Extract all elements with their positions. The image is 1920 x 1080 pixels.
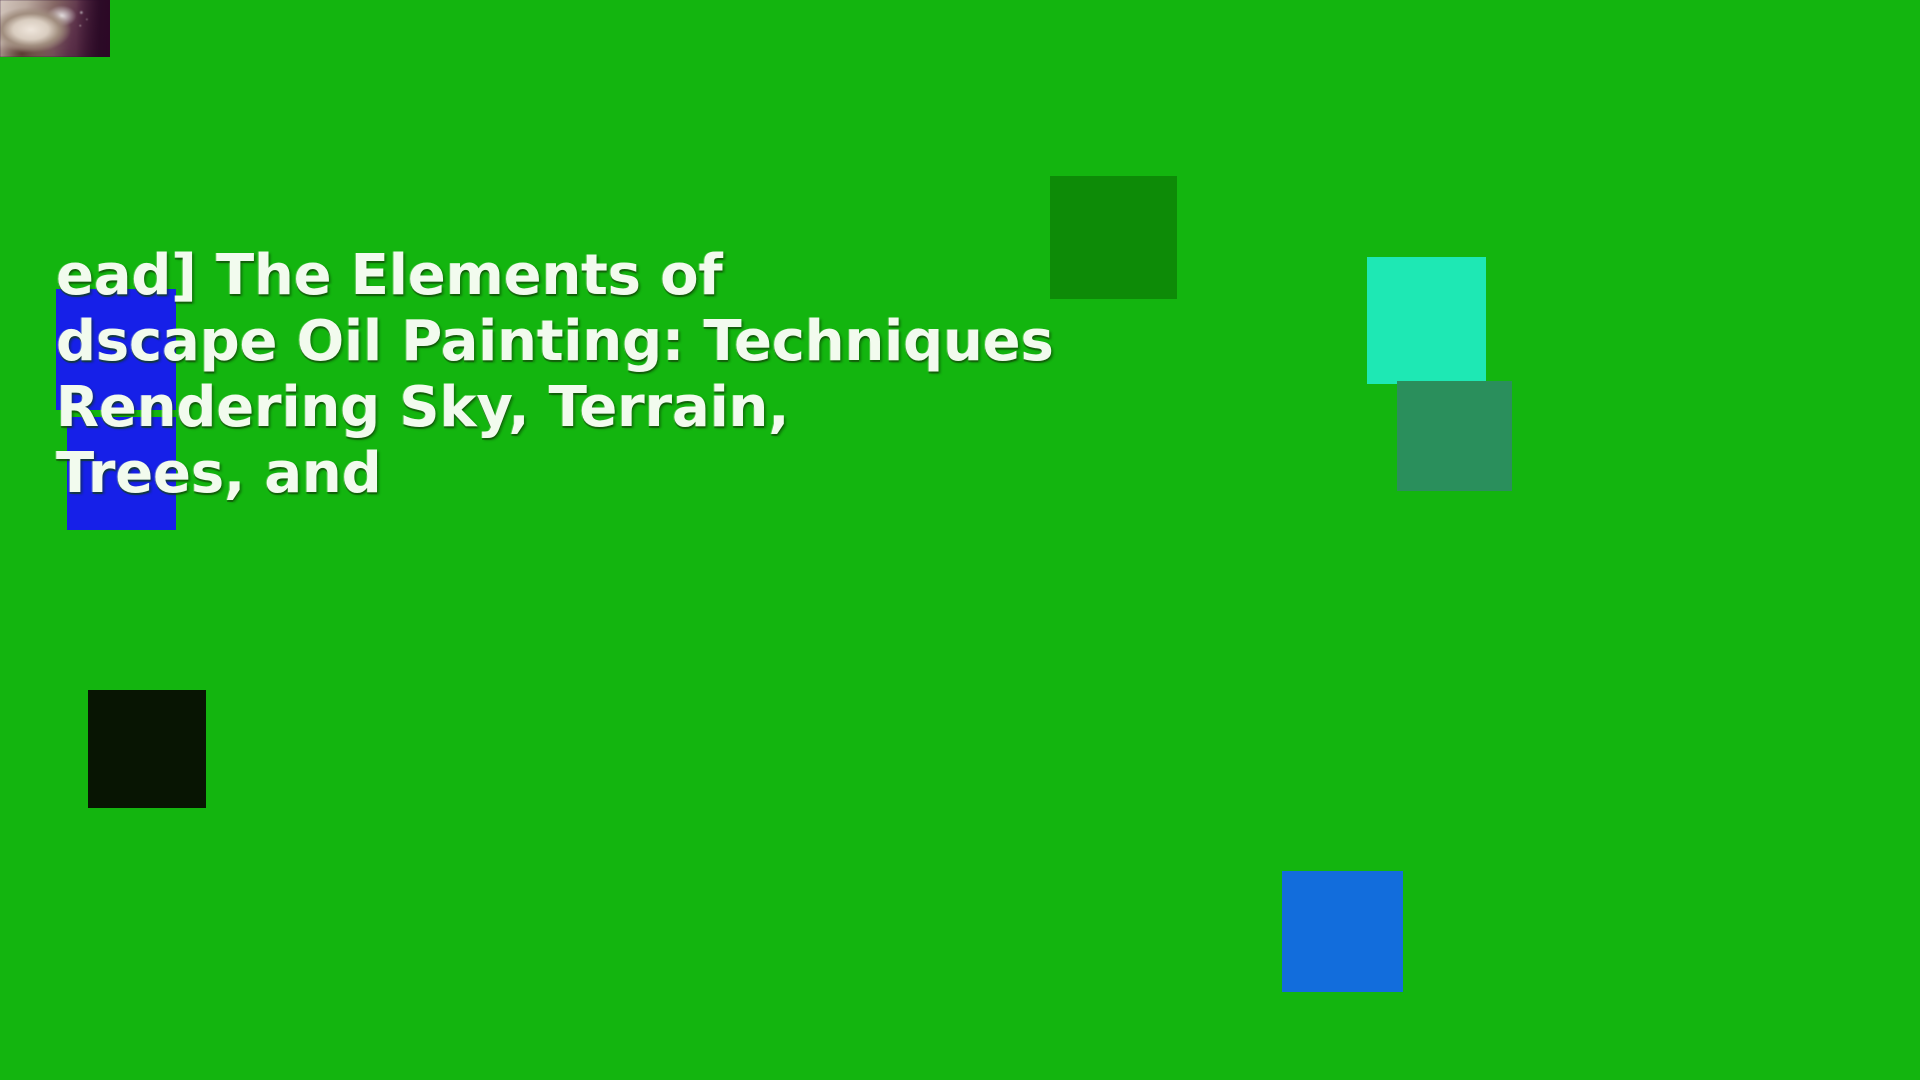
title-line-3: Rendering Sky, Terrain,	[56, 375, 1086, 441]
dark-square	[88, 690, 206, 808]
corner-thumbnail[interactable]	[0, 0, 110, 57]
thumbnail-vignette	[76, 0, 110, 57]
title-line-4: Trees, and	[56, 441, 1086, 507]
title-line-1: ead] The Elements of	[56, 243, 1086, 309]
video-title: ead] The Elements of dscape Oil Painting…	[56, 243, 1086, 507]
cyan-square	[1367, 257, 1486, 384]
title-line-2: dscape Oil Painting: Techniques	[56, 309, 1086, 375]
seagreen-square	[1397, 381, 1512, 491]
video-frame: ead] The Elements of dscape Oil Painting…	[0, 0, 1920, 1080]
blue-square-bottom	[1282, 871, 1403, 992]
